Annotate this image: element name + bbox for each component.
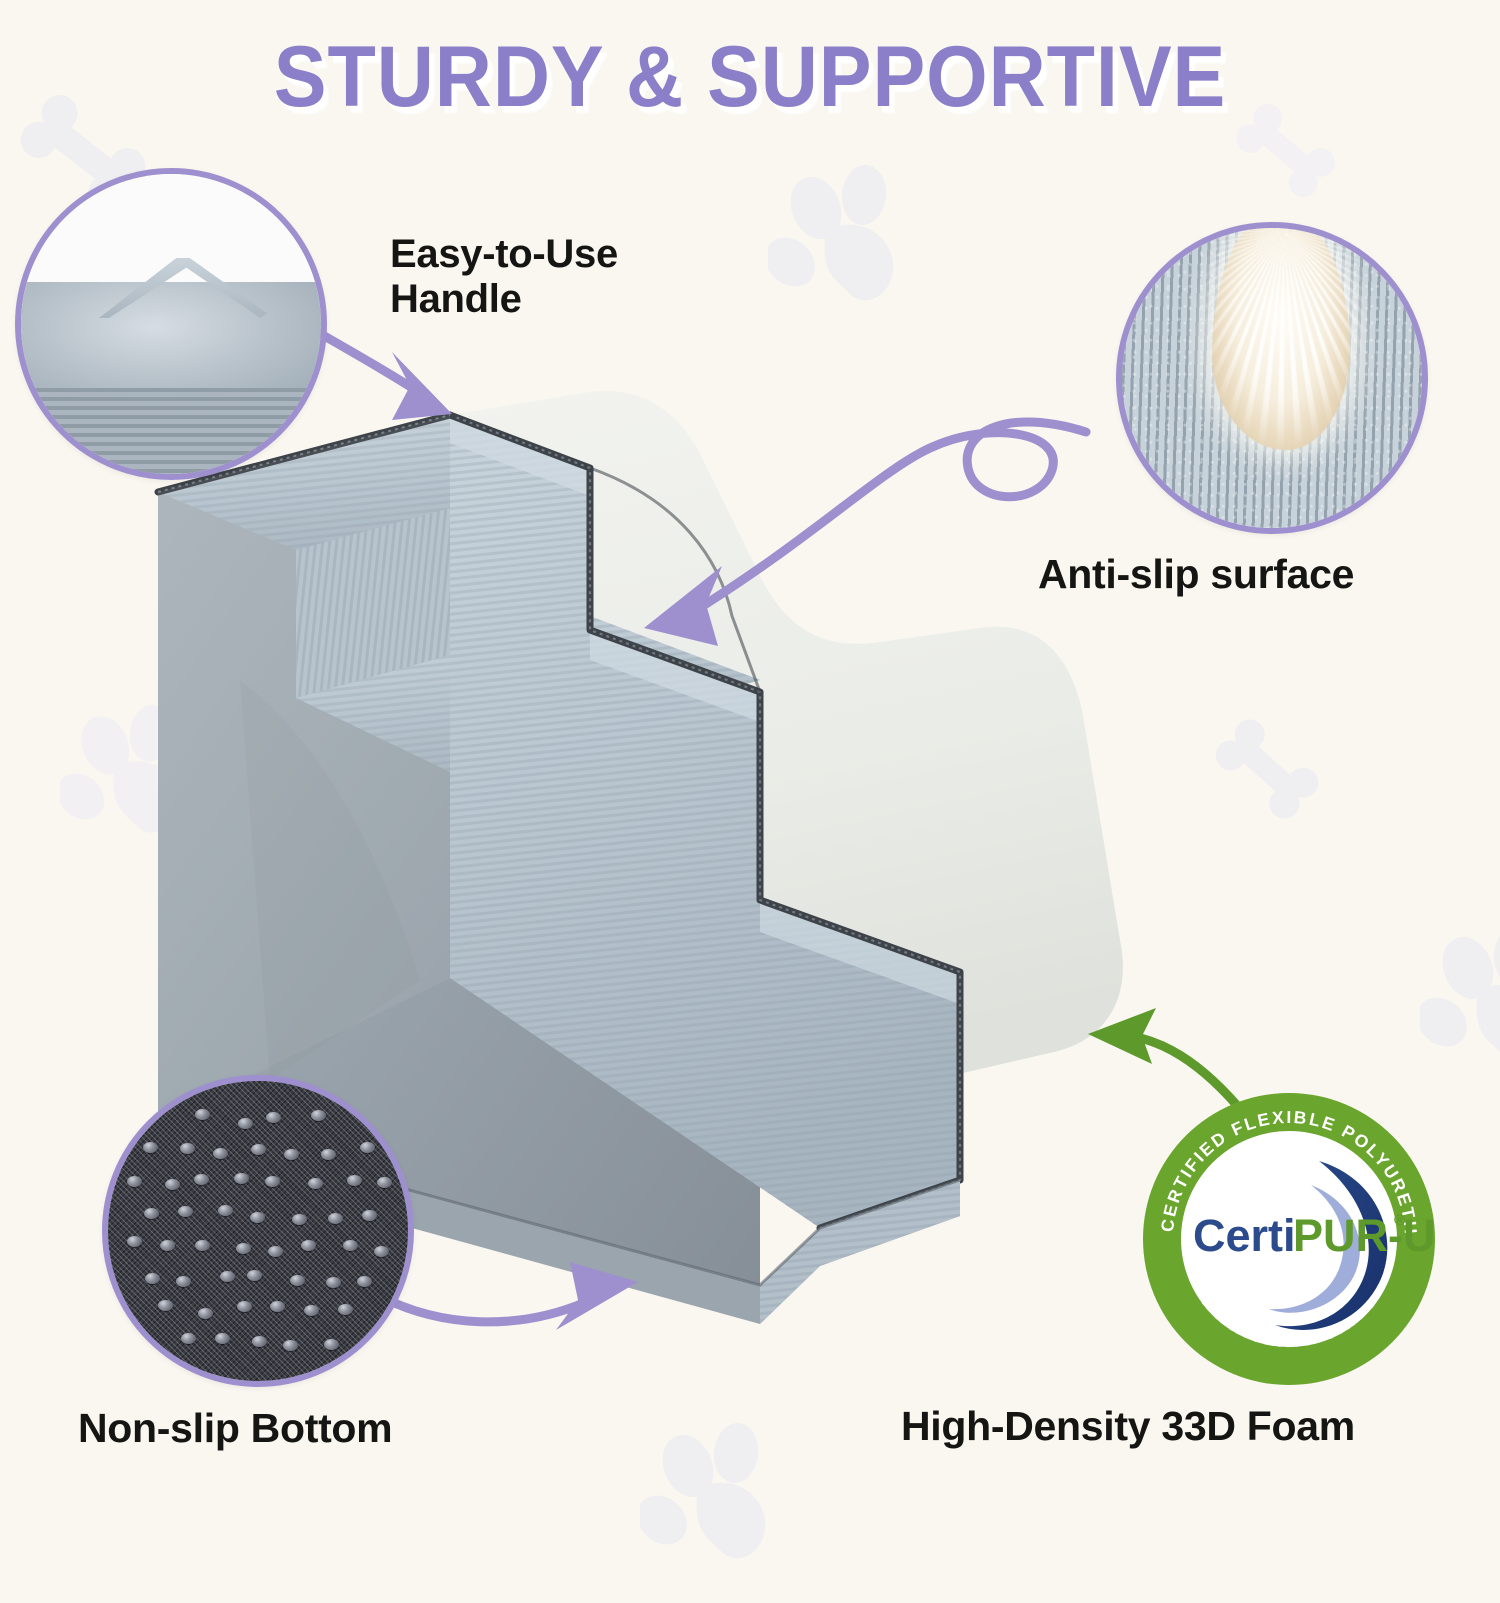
nonslip-closeup-circle	[102, 1075, 414, 1387]
handle-photo	[21, 174, 321, 474]
badge-brand-part-1: Certi	[1193, 1210, 1296, 1261]
callout-label-handle-line1: Easy-to-Use	[390, 232, 618, 277]
badge-brand-part-2: PUR-US	[1293, 1210, 1435, 1261]
paw-watermark	[768, 160, 948, 345]
grip-dots	[108, 1081, 408, 1381]
infographic-canvas: STURDY & SUPPORTIVE	[0, 0, 1500, 1500]
antislip-closeup-circle	[1116, 222, 1428, 534]
paw-watermark	[640, 1418, 820, 1603]
badge-registered-mark: ®	[1394, 1212, 1405, 1229]
bone-watermark	[1205, 712, 1330, 827]
page-title: STURDY & SUPPORTIVE	[60, 34, 1440, 120]
callout-label-handle: Easy-to-Use Handle	[390, 232, 618, 322]
callout-label-nonslip: Non-slip Bottom	[78, 1406, 392, 1452]
paw-watermark	[1420, 920, 1500, 1105]
callout-label-handle-line2: Handle	[390, 277, 618, 322]
callout-label-foam: High-Density 33D Foam	[901, 1404, 1355, 1450]
nonslip-photo	[108, 1081, 408, 1381]
handle-closeup-circle	[15, 168, 327, 480]
callout-label-antislip: Anti-slip surface	[1038, 552, 1354, 598]
certipur-us-badge: CONTAINS CERTIFIED FLEXIBLE POLYURETHANE…	[1143, 1093, 1435, 1385]
antislip-photo	[1122, 228, 1422, 528]
